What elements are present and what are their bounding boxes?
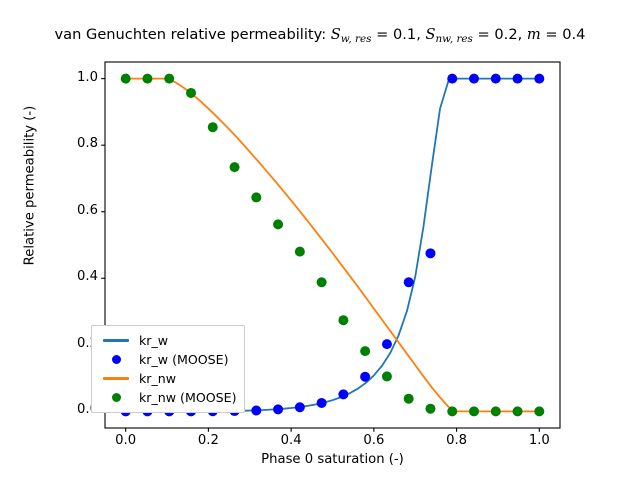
data-point bbox=[142, 74, 152, 84]
data-point bbox=[251, 406, 261, 416]
data-point bbox=[338, 315, 348, 325]
data-point bbox=[513, 406, 523, 416]
y-tick-label: 1.0 bbox=[56, 70, 98, 85]
legend-label: kr_w (MOOSE) bbox=[134, 352, 229, 367]
x-tick-label: 1.0 bbox=[509, 433, 569, 448]
y-tick-label: 0.4 bbox=[56, 269, 98, 284]
legend-key bbox=[98, 339, 134, 341]
data-point bbox=[534, 74, 544, 84]
data-point bbox=[360, 346, 370, 356]
data-point bbox=[425, 404, 435, 414]
y-axis-label: Relative permeability (-) bbox=[23, 3, 38, 369]
data-point bbox=[491, 74, 501, 84]
data-point bbox=[425, 248, 435, 258]
legend-dot-swatch bbox=[112, 393, 121, 402]
data-point bbox=[382, 339, 392, 349]
data-point bbox=[186, 88, 196, 98]
data-point bbox=[164, 74, 174, 84]
legend-line-swatch bbox=[103, 339, 129, 341]
data-point bbox=[534, 406, 544, 416]
data-point bbox=[491, 406, 501, 416]
data-point bbox=[230, 162, 240, 172]
x-tick-label: 0.6 bbox=[344, 433, 404, 448]
x-tick-label: 0.0 bbox=[96, 433, 156, 448]
data-point bbox=[317, 398, 327, 408]
data-point bbox=[469, 406, 479, 416]
data-point bbox=[404, 277, 414, 287]
data-point bbox=[295, 247, 305, 257]
chart-legend: kr_wkr_w (MOOSE)kr_nwkr_nw (MOOSE) bbox=[91, 325, 245, 413]
legend-item: kr_nw bbox=[98, 369, 237, 388]
data-point bbox=[121, 74, 131, 84]
legend-label: kr_nw bbox=[134, 371, 176, 386]
x-tick-label: 0.4 bbox=[261, 433, 321, 448]
data-point bbox=[338, 389, 348, 399]
figure: van Genuchten relative permeability: Sw,… bbox=[0, 0, 640, 480]
legend-line-swatch bbox=[103, 377, 129, 379]
data-point bbox=[208, 122, 218, 132]
data-point bbox=[360, 372, 370, 382]
legend-item: kr_w (MOOSE) bbox=[98, 350, 237, 369]
legend-label: kr_w bbox=[134, 333, 168, 348]
legend-dot-swatch bbox=[112, 355, 121, 364]
data-point bbox=[513, 74, 523, 84]
legend-item: kr_w bbox=[98, 331, 237, 350]
data-point bbox=[295, 402, 305, 412]
x-tick-label: 0.2 bbox=[178, 433, 238, 448]
legend-key bbox=[98, 355, 134, 364]
data-point bbox=[251, 192, 261, 202]
legend-key bbox=[98, 377, 134, 379]
data-point bbox=[447, 74, 457, 84]
legend-key bbox=[98, 393, 134, 402]
x-tick-label: 0.8 bbox=[427, 433, 487, 448]
x-axis-label: Phase 0 saturation (-) bbox=[105, 452, 560, 467]
legend-item: kr_nw (MOOSE) bbox=[98, 388, 237, 407]
data-point bbox=[273, 404, 283, 414]
data-point bbox=[382, 371, 392, 381]
legend-label: kr_nw (MOOSE) bbox=[134, 390, 237, 405]
y-tick-label: 0.6 bbox=[56, 203, 98, 218]
data-point bbox=[273, 219, 283, 229]
data-point bbox=[404, 394, 414, 404]
y-tick-label: 0.8 bbox=[56, 136, 98, 151]
data-point bbox=[469, 74, 479, 84]
data-point bbox=[317, 277, 327, 287]
data-point bbox=[447, 406, 457, 416]
